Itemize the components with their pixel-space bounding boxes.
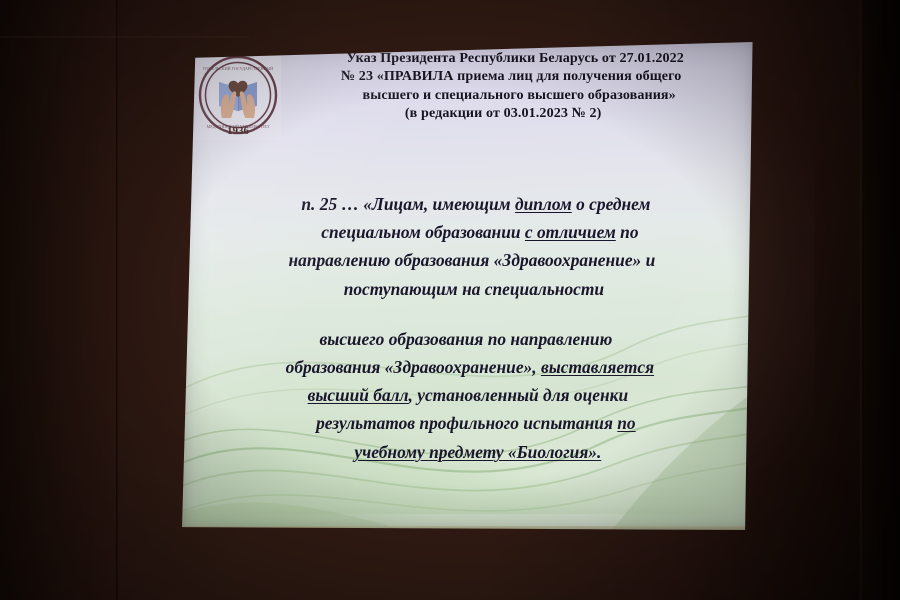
wall-seam-top — [0, 36, 250, 38]
wall-panel-right — [862, 0, 900, 600]
projection-screen: ГОМЕЛЬСКИЙ ГОСУДАРСТВЕННЫЙ МЕДИЦИНСКИЙ У… — [182, 40, 756, 534]
paragraph-2-line-2: образования «Здравоохранение», выставляе… — [206, 353, 734, 381]
p2l4-underlined: по — [617, 413, 635, 433]
paragraph-1-line-2: специальном образовании с отличием по — [216, 218, 744, 246]
body-paragraph-2: высшего образования по направлению образ… — [208, 325, 736, 466]
paragraph-1-line-3: направлению образования «Здравоохранение… — [208, 246, 736, 274]
p1l1-a: п. 25 … «Лицам, имеющим — [301, 194, 515, 214]
title-line-4: (в редакции от 03.01.2023 № 2) — [265, 104, 741, 122]
body-paragraph-1: п. 25 … «Лицам, имеющим диплом о среднем… — [208, 190, 736, 303]
wall-panel-left — [0, 0, 118, 600]
p2l2-underlined: выставляется — [541, 357, 654, 377]
photo-scene: ГОМЕЛЬСКИЙ ГОСУДАРСТВЕННЫЙ МЕДИЦИНСКИЙ У… — [0, 0, 900, 600]
wall-seam-right — [860, 0, 864, 600]
paragraph-2-line-1: высшего образования по направлению — [202, 325, 730, 353]
slide-title: Указ Президента Республики Беларусь от 2… — [271, 49, 747, 122]
svg-text:1936: 1936 — [227, 125, 250, 137]
paragraph-2-line-3: высший балл, установленный для оценки — [204, 381, 732, 409]
p1l2-b: по — [616, 222, 639, 242]
slide-body: п. 25 … «Лицам, имеющим диплом о среднем… — [208, 190, 736, 482]
p2l2-a: образования «Здравоохранение», — [286, 357, 541, 377]
slide-header: ГОМЕЛЬСКИЙ ГОСУДАРСТВЕННЫЙ МЕДИЦИНСКИЙ У… — [182, 45, 756, 175]
presentation-slide: ГОМЕЛЬСКИЙ ГОСУДАРСТВЕННЫЙ МЕДИЦИНСКИЙ У… — [182, 40, 756, 534]
p2l4-a: результатов профильного испытания — [316, 413, 617, 433]
title-line-2: № 23 «ПРАВИЛА приема лиц для получения о… — [273, 67, 749, 85]
p1l2-underlined: с отличием — [525, 222, 616, 242]
paragraph-2-line-4: результатов профильного испытания по — [212, 409, 740, 437]
p1l1-b: о среднем — [572, 194, 651, 214]
p1l2-a: специальном образовании — [321, 222, 525, 242]
university-emblem-icon: ГОМЕЛЬСКИЙ ГОСУДАРСТВЕННЫЙ МЕДИЦИНСКИЙ У… — [195, 50, 281, 140]
title-line-3: высшего и специального высшего образован… — [281, 86, 756, 104]
paragraph-1-line-1: п. 25 … «Лицам, имеющим диплом о среднем — [212, 190, 740, 218]
paragraph-1-line-4: поступающим на специальности — [210, 275, 738, 303]
p2l3-underlined: высший балл — [308, 385, 409, 405]
p2l3-b: , установленный для оценки — [409, 385, 629, 405]
p1l1-underlined: диплом — [515, 194, 572, 214]
svg-text:ГОМЕЛЬСКИЙ ГОСУДАРСТВЕННЫЙ: ГОМЕЛЬСКИЙ ГОСУДАРСТВЕННЫЙ — [203, 66, 273, 71]
paragraph-2-line-5: учебному предмету «Биология». — [214, 438, 742, 466]
wall-seam-left — [116, 0, 119, 600]
